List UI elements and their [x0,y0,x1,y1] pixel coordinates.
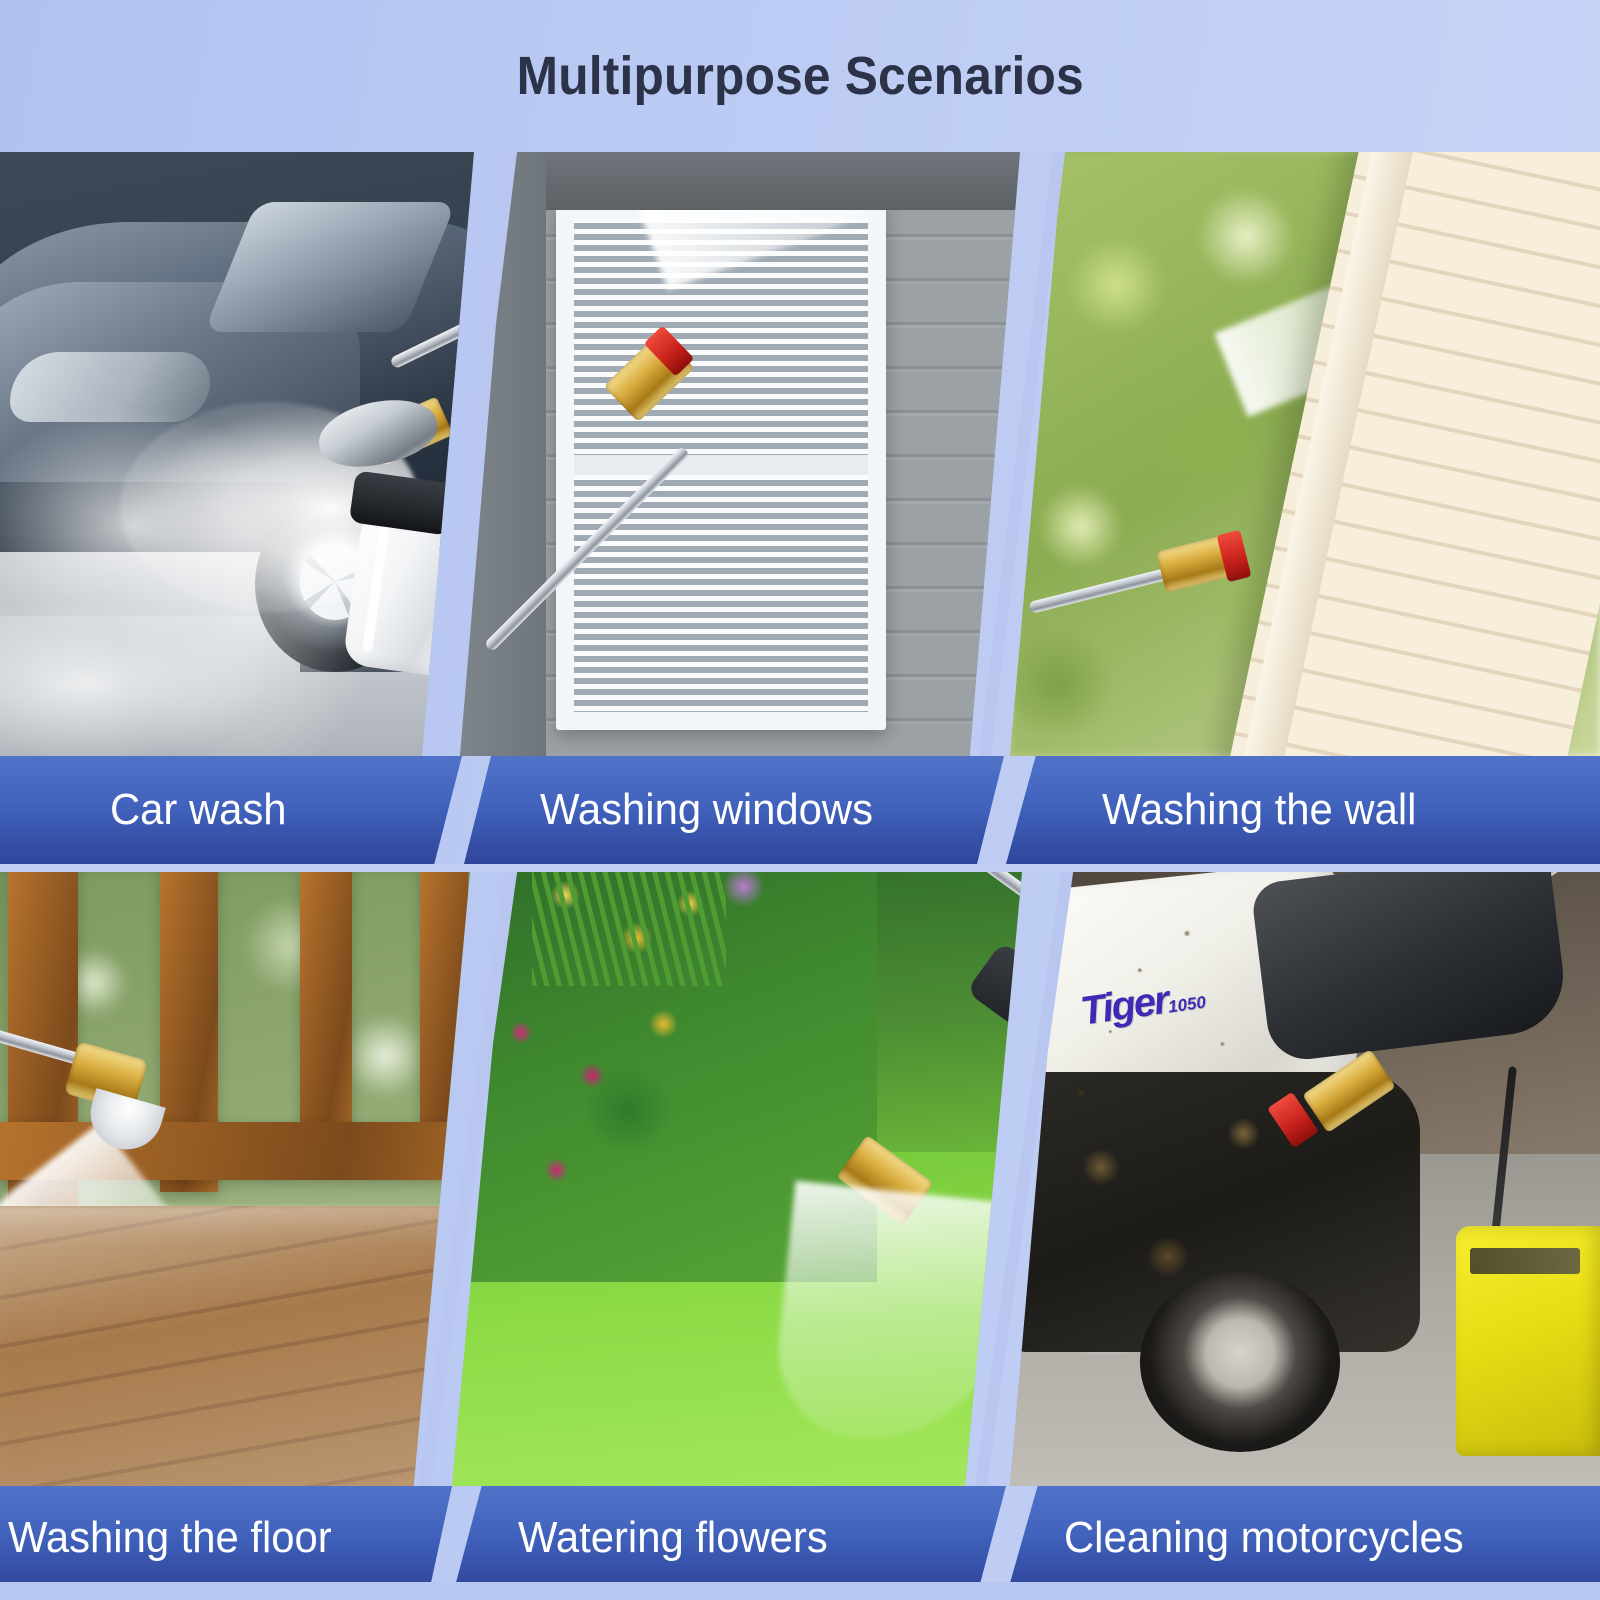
page-title: Multipurpose Scenarios [516,49,1083,103]
scenario-label-text: Cleaning motorcycles [1064,1516,1464,1560]
scenario-label-text: Washing the wall [1102,788,1416,832]
scenario-row-2: Tiger1050 [0,872,1600,1590]
scenario-row-1-labels: Car wash Washing windows Washing the wal… [0,756,1600,864]
motorcycle-model-text: 1050 [1167,993,1207,1017]
scenario-image-washing-the-floor[interactable] [0,872,470,1486]
scenario-label-text: Washing windows [540,788,873,832]
scenario-image-watering-flowers[interactable] [452,872,1022,1486]
poster-header: Multipurpose Scenarios [0,0,1600,152]
scenario-row-1-photos [0,152,1600,756]
scenario-label-washing-the-wall[interactable]: Washing the wall [1006,756,1600,864]
row-gap [0,864,1600,872]
ornamental-grass [532,872,726,986]
scenario-row-2-labels: Washing the floor Watering flowers Clean… [0,1486,1600,1590]
lance-grip [966,941,1022,1041]
scenario-label-cleaning-motorcycles[interactable]: Cleaning motorcycles [1008,1486,1600,1590]
scenario-image-car-wash[interactable] [0,152,474,756]
watering-flowers-scene [452,872,1022,1486]
scenario-row-1: Car wash Washing windows Washing the wal… [0,152,1600,864]
scenario-label-text: Watering flowers [518,1516,828,1560]
car-wash-scene [0,152,474,756]
washing-the-floor-scene [0,872,470,1486]
pressure-washer-unit [1456,1226,1600,1456]
deck-post [420,872,468,1152]
scenario-grid: Car wash Washing windows Washing the wal… [0,152,1600,1582]
scenario-label-car-wash[interactable]: Car wash [0,756,462,864]
scenario-label-text: Washing the floor [8,1516,332,1560]
scenario-label-washing-windows[interactable]: Washing windows [464,756,1004,864]
cleaning-motorcycles-scene: Tiger1050 [1010,872,1600,1486]
window-frame [556,200,886,730]
footer-border-strip [0,1582,1600,1600]
washing-the-wall-scene [1010,152,1600,756]
scenario-image-washing-windows[interactable] [460,152,1020,756]
washing-windows-scene [460,152,1020,756]
scenario-image-washing-the-wall[interactable] [1010,152,1600,756]
car-headlight [10,352,210,422]
wet-deck-sheen [0,1206,470,1486]
multipurpose-scenarios-poster: Multipurpose Scenarios [0,0,1600,1600]
scenario-label-watering-flowers[interactable]: Watering flowers [454,1486,1006,1590]
scenario-image-cleaning-motorcycles[interactable]: Tiger1050 [1010,872,1600,1486]
scenario-label-washing-the-floor[interactable]: Washing the floor [0,1486,452,1590]
scenario-label-text: Car wash [110,788,287,832]
scenario-row-2-photos: Tiger1050 [0,872,1600,1486]
motorcycle-front-wheel [1140,1272,1340,1452]
deck-post [300,872,352,1162]
